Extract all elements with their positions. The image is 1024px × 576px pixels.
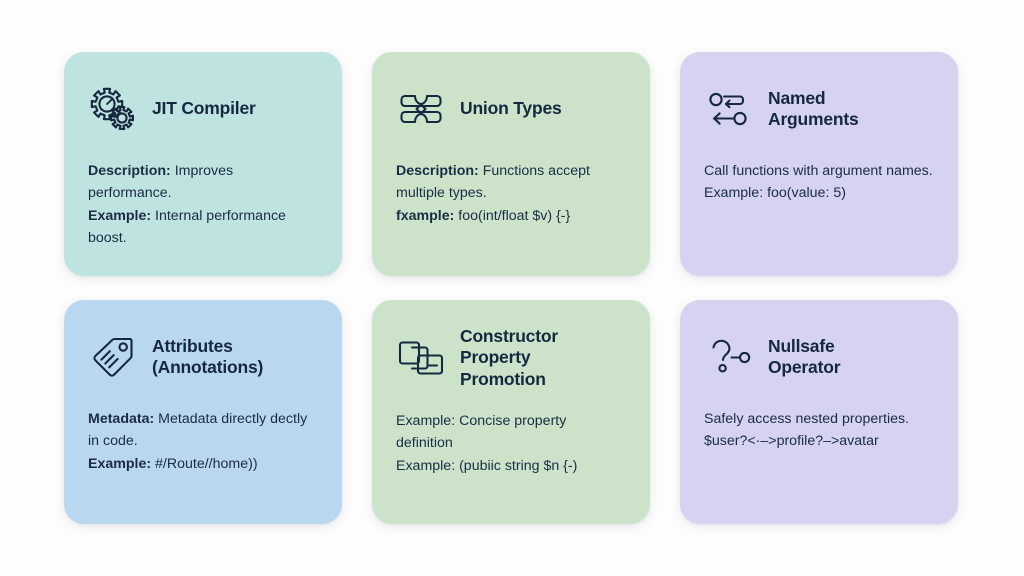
- card-header: Union Types: [396, 78, 626, 140]
- card-header: Named Arguments: [704, 78, 934, 140]
- card-body-line: Call functions with argument names.: [704, 160, 934, 182]
- stacked-cards-icon: [396, 333, 446, 383]
- feature-card-nullsafe-operator[interactable]: Nullsafe OperatorSafely access nested pr…: [680, 300, 958, 524]
- feature-card-constructor-property-promotion[interactable]: Constructor Property PromotionExample: C…: [372, 300, 650, 524]
- card-title: Constructor Property Promotion: [460, 326, 558, 390]
- card-body-line: Safely access nested properties.: [704, 408, 934, 430]
- card-body: Description: Improves performance.Exampl…: [88, 160, 318, 250]
- card-body-text: #/Route//home)): [151, 456, 257, 472]
- card-body: Metadata: Metadata directly dectly in co…: [88, 408, 318, 475]
- card-body-text: Example: Concise property definition: [396, 413, 570, 451]
- feature-card-grid: JIT CompilerDescription: Improves perfor…: [64, 52, 960, 524]
- card-header: JIT Compiler: [88, 78, 318, 140]
- card-body-text: Example: foo(value: 5): [704, 185, 846, 201]
- card-body-line: fxample: foo(int/float $v) {-}: [396, 205, 626, 227]
- feature-card-attributes-annotations[interactable]: Attributes (Annotations)Metadata: Metada…: [64, 300, 342, 524]
- card-body: Description: Functions accept multiple t…: [396, 160, 626, 227]
- union-diamond-icon: [396, 84, 446, 134]
- card-header: Nullsafe Operator: [704, 326, 934, 388]
- card-body-line: Example: (pubiic string $n {-): [396, 455, 626, 477]
- feature-card-union-types[interactable]: Union TypesDescription: Functions accept…: [372, 52, 650, 276]
- card-body-line: Metadata: Metadata directly dectly in co…: [88, 408, 318, 453]
- card-body: Safely access nested properties.$user?<·…: [704, 408, 934, 453]
- gear-speed-icon: [88, 84, 138, 134]
- card-title: Named Arguments: [768, 88, 859, 131]
- card-title: JIT Compiler: [152, 98, 256, 119]
- card-body-text: Example: (pubiic string $n {-): [396, 458, 577, 474]
- card-body-label: Metadata:: [88, 411, 154, 427]
- card-body-line: Example: Internal performance boost.: [88, 205, 318, 250]
- card-body-label: Example:: [88, 208, 151, 224]
- card-body-label: Description:: [88, 163, 171, 179]
- card-header: Attributes (Annotations): [88, 326, 318, 388]
- swap-arrows-icon: [704, 84, 754, 134]
- card-body-line: Example: Concise property definition: [396, 410, 626, 455]
- card-body-label: fxample:: [396, 208, 454, 224]
- card-body-text: foo(int/float $v) {-}: [454, 208, 570, 224]
- card-body-text: $user?<·–>profile?–>avatar: [704, 433, 879, 449]
- card-body: Example: Concise property definitionExam…: [396, 410, 626, 477]
- card-title: Attributes (Annotations): [152, 336, 263, 379]
- card-body-text: Call functions with argument names.: [704, 163, 933, 179]
- question-node-icon: [704, 332, 754, 382]
- card-body: Call functions with argument names.Examp…: [704, 160, 934, 205]
- card-body-line: Description: Improves performance.: [88, 160, 318, 205]
- card-body-label: Example:: [88, 456, 151, 472]
- tag-icon: [88, 332, 138, 382]
- card-body-line: Example: foo(value: 5): [704, 182, 934, 204]
- card-body-label: Description:: [396, 163, 479, 179]
- card-board: JIT CompilerDescription: Improves perfor…: [0, 0, 1024, 576]
- feature-card-named-arguments[interactable]: Named ArgumentsCall functions with argum…: [680, 52, 958, 276]
- card-title: Nullsafe Operator: [768, 336, 840, 379]
- feature-card-jit-compiler[interactable]: JIT CompilerDescription: Improves perfor…: [64, 52, 342, 276]
- card-body-line: Description: Functions accept multiple t…: [396, 160, 626, 205]
- card-body-line: $user?<·–>profile?–>avatar: [704, 430, 934, 452]
- card-body-text: Safely access nested properties.: [704, 411, 909, 427]
- card-body-line: Example: #/Route//home)): [88, 453, 318, 475]
- card-header: Constructor Property Promotion: [396, 326, 626, 390]
- card-title: Union Types: [460, 98, 562, 119]
